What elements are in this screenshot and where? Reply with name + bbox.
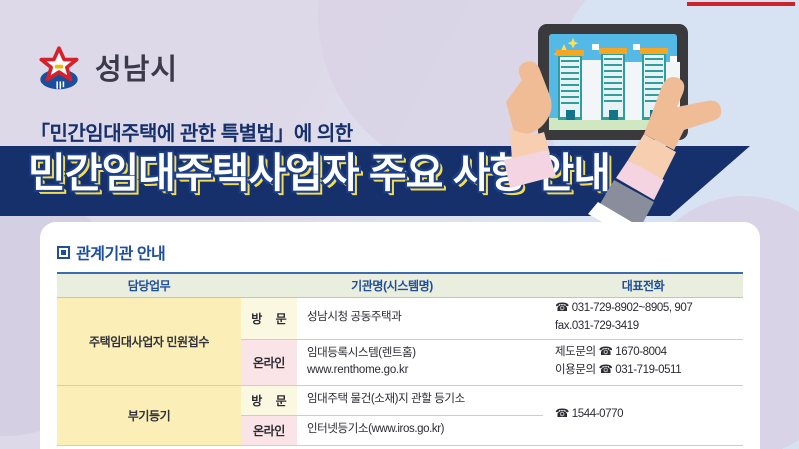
column-header-phone: 대표전화 xyxy=(543,273,743,297)
square-bullet-icon xyxy=(57,246,70,259)
column-header-organization: 기관명(시스템명) xyxy=(241,273,543,297)
organization-url[interactable]: www.renthome.go.kr xyxy=(307,362,543,379)
fax-line: fax.031-729-3419 xyxy=(555,318,743,336)
phone-line: ☎ 1544-0770 xyxy=(555,406,743,424)
organization-name[interactable]: 인터넷등기소(www.iros.go.kr) xyxy=(297,415,543,445)
organization-name: 임대주택 물건(소재)지 관할 등기소 xyxy=(297,385,543,415)
phone-cell: 제도문의 ☎ 1670-8004 이용문의 ☎ 031-719-0511 xyxy=(543,339,743,385)
organization-name: 임대등록시스템(렌트홈) xyxy=(307,345,543,362)
table-row: 부기등기 방 문 임대주택 물건(소재)지 관할 등기소 ☎ 1544-0770 xyxy=(57,385,743,415)
phone-cell: ☎ 031-729-8902~8905, 907 fax.031-729-341… xyxy=(543,297,743,339)
phone-line-policy: 제도문의 ☎ 1670-8004 xyxy=(555,344,743,362)
poster-subtitle: 「민간임대주택에 관한 특별법」에 의한 xyxy=(30,117,353,146)
task-label: 부기등기 xyxy=(57,385,241,445)
content-card: 관계기관 안내 담당업무 기관명(시스템명) 대표전화 주택임대사업자 민원접수… xyxy=(40,222,760,449)
task-label: 주택임대사업자 민원접수 xyxy=(57,297,241,385)
contact-kind-label: 방 문 xyxy=(241,385,297,415)
city-logo-block: 성남시 xyxy=(33,44,178,96)
column-header-task: 담당업무 xyxy=(57,273,241,297)
contact-kind-label: 방 문 xyxy=(241,297,297,339)
city-name-label: 성남시 xyxy=(95,56,178,85)
section-title: 관계기관 안내 xyxy=(76,240,165,264)
related-organizations-table: 담당업무 기관명(시스템명) 대표전화 주택임대사업자 민원접수 방 문 성남시… xyxy=(57,272,743,446)
poster-root: 성남시 「민간임대주택에 관한 특별법」에 의한 민간임대주택사업자 주요 사항… xyxy=(0,0,799,449)
organization-name: 성남시청 공동주택과 xyxy=(297,297,543,339)
table-header-row: 담당업무 기관명(시스템명) 대표전화 xyxy=(57,273,743,297)
phone-cell: ☎ 1544-0770 xyxy=(543,385,743,445)
contact-kind-label: 온라인 xyxy=(241,415,297,445)
contact-kind-label: 온라인 xyxy=(241,339,297,385)
section-header: 관계기관 안내 xyxy=(57,240,165,264)
table-row: 주택임대사업자 민원접수 방 문 성남시청 공동주택과 ☎ 031-729-89… xyxy=(57,297,743,339)
hands-holding-tablet-icon xyxy=(470,0,799,230)
organization-cell: 임대등록시스템(렌트홈) www.renthome.go.kr xyxy=(297,339,543,385)
phone-line-usage: 이용문의 ☎ 031-719-0511 xyxy=(555,362,743,380)
seongnam-city-flower-logo-icon xyxy=(33,44,85,96)
phone-line: ☎ 031-729-8902~8905, 907 xyxy=(555,300,743,318)
